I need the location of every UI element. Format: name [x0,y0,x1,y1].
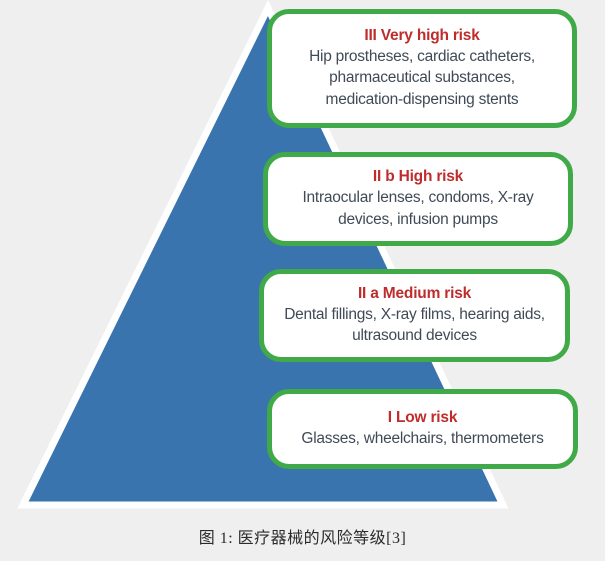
risk-level-examples: Glasses, wheelchairs, thermometers [301,428,543,450]
risk-level-example-line: devices, infusion pumps [303,209,534,231]
figure-caption: 图 1: 医疗器械的风险等级[3] [0,524,605,548]
risk-level-title: I Low risk [388,407,458,428]
risk-level-card-medium[interactable]: II a Medium risk Dental fillings, X-ray … [259,269,570,362]
risk-level-examples: Intraocular lenses, condoms, X-ray devic… [303,187,534,230]
risk-level-example-line: ultrasound devices [284,325,545,347]
risk-level-card-high[interactable]: II b High risk Intraocular lenses, condo… [263,152,573,246]
risk-level-example-line: Dental fillings, X-ray films, hearing ai… [284,304,545,326]
risk-level-examples: Dental fillings, X-ray films, hearing ai… [284,304,545,347]
risk-level-title: II b High risk [373,166,463,187]
risk-level-title: III Very high risk [364,25,479,46]
risk-pyramid-figure: III Very high risk Hip prostheses, cardi… [0,0,605,561]
risk-level-example-line: Hip prostheses, cardiac catheters, [309,46,535,68]
risk-level-example-line: Glasses, wheelchairs, thermometers [301,428,543,450]
risk-level-example-line: Intraocular lenses, condoms, X-ray [303,187,534,209]
risk-level-example-line: medication-dispensing stents [309,89,535,111]
risk-level-example-line: pharmaceutical substances, [309,67,535,89]
risk-level-examples: Hip prostheses, cardiac catheters, pharm… [309,46,535,111]
risk-level-title: II a Medium risk [358,283,471,304]
risk-level-card-low[interactable]: I Low risk Glasses, wheelchairs, thermom… [267,389,578,469]
risk-level-card-very-high[interactable]: III Very high risk Hip prostheses, cardi… [267,9,577,128]
